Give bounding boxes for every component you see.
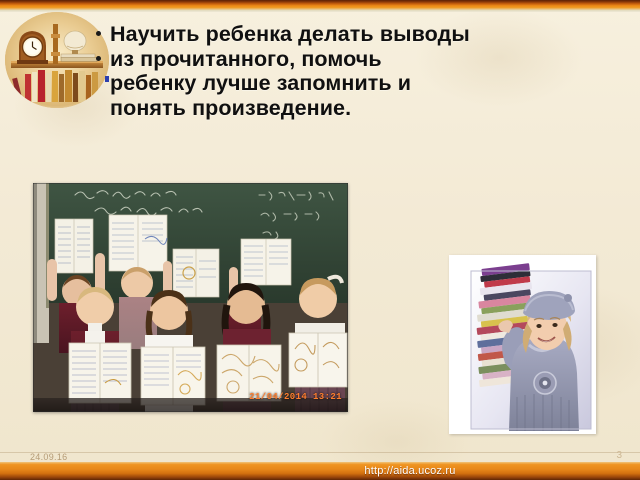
bullet-continuation-1-label: ребенку лучше запомнить и — [110, 71, 411, 95]
bullet-continuation-2: понять произведение. — [110, 96, 630, 121]
bullet-square-icon — [105, 76, 109, 82]
photo-timestamp: 21/04/2014 13:21 — [249, 392, 342, 402]
classroom-photo: 21/04/2014 13:21 — [33, 183, 348, 412]
bullet-dot-icon — [96, 31, 101, 36]
slide-number: 3 — [616, 450, 622, 461]
bullet-continuation-1: ребенку лучше запомнить и — [110, 71, 630, 96]
bullet-item-2-label: из прочитанного, помочь — [110, 47, 382, 71]
bullet-item-1: Научить ребенка делать выводы — [110, 22, 630, 47]
clock-bookshelf-oval-image — [5, 12, 109, 108]
bullet-item-1-label: Научить ребенка делать выводы — [110, 22, 470, 46]
footer-date: 24.09.16 — [30, 452, 67, 462]
footer-divider — [0, 452, 640, 453]
top-border-bar — [0, 0, 640, 12]
bullet-dot-icon — [96, 56, 101, 61]
bullet-item-2: из прочитанного, помочь — [110, 47, 630, 72]
slide-canvas: Научить ребенка делать выводы из прочита… — [0, 0, 640, 480]
girl-with-books-photo — [449, 255, 596, 434]
watermark-url: http://aida.ucoz.ru — [0, 462, 640, 480]
bullet-text-block: Научить ребенка делать выводы из прочита… — [110, 22, 630, 120]
